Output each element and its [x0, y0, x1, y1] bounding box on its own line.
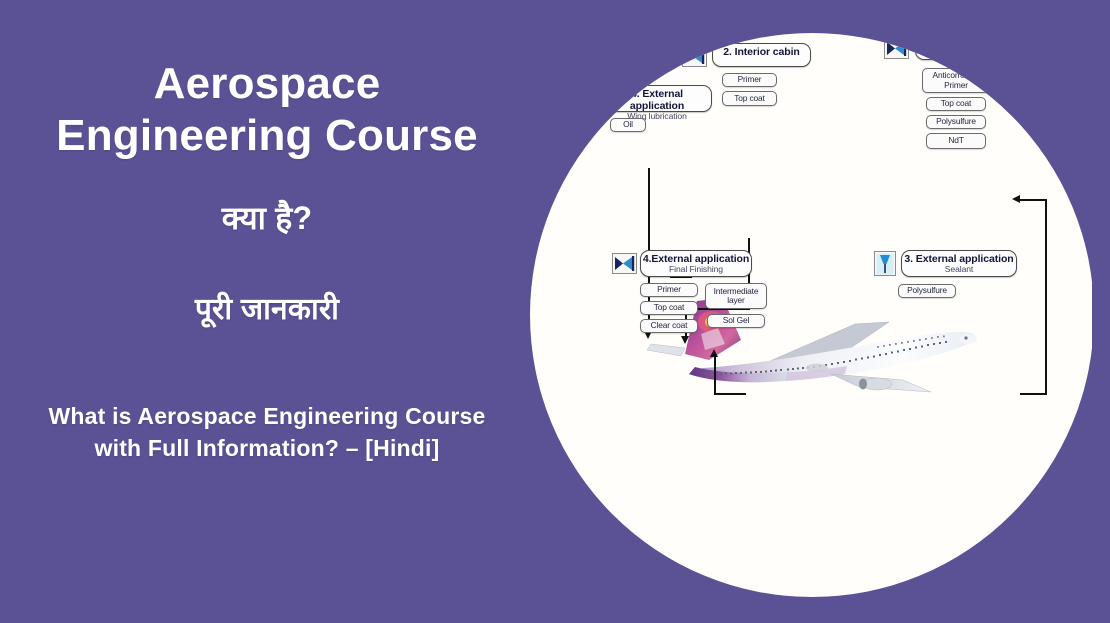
chip-primer-2[interactable]: Primer [640, 283, 698, 297]
node-external-final-finishing[interactable]: 4.External application Final Finishing [640, 250, 752, 277]
node-title: 3. External application [902, 251, 1016, 265]
caption-line-1: What is Aerospace Engineering Course [7, 401, 527, 433]
hindi-question-text: क्या है? [222, 200, 312, 238]
chip-primer-1[interactable]: Primer [722, 73, 777, 87]
caption-line-2: with Full Information? – [Hindi] [7, 433, 527, 465]
connector-line-n3-h-top [1017, 199, 1047, 201]
connector-line-n5-h [714, 393, 746, 395]
headline-column: Aerospace Engineering Course क्या है? पू… [0, 0, 534, 623]
chip-ndt[interactable]: NdT [926, 133, 986, 149]
chip-polysulfure-1[interactable]: Polysulfure [926, 115, 986, 129]
connector-arrow-n5 [710, 349, 718, 357]
connector-line-n5-v [714, 353, 716, 395]
aircraft-coating-diagram: 1. Structural parts Anticorrosion Primer… [530, 33, 1094, 597]
node-interior-cabin[interactable]: 2. Interior cabin [712, 43, 811, 67]
promo-banner: Aerospace Engineering Course क्या है? पू… [0, 0, 1110, 623]
caption-text: What is Aerospace Engineering Course wit… [7, 401, 527, 464]
node-external-sealant[interactable]: 3. External application Sealant [901, 250, 1017, 277]
chip-polysulfure-2[interactable]: Polysulfure [898, 284, 956, 298]
chip-top-coat-3[interactable]: Top coat [640, 301, 698, 315]
chip-anticorrosion-primer[interactable]: Anticorrosion Primer [922, 68, 990, 93]
node-subtitle: Sealant [902, 265, 1016, 275]
connector-arrow-n2 [681, 336, 689, 344]
chip-oil[interactable]: Oil [610, 118, 646, 132]
illustration-circle-panel: 1. Structural parts Anticorrosion Primer… [530, 33, 1094, 597]
node-title: 1. Structural parts [916, 36, 1030, 50]
chip-clear-coat[interactable]: Clear coat [640, 319, 698, 333]
connector-line-n3-v [1045, 199, 1047, 394]
spray-gun-icon [884, 38, 909, 59]
node-subtitle: Final Finishing [641, 265, 751, 275]
chip-top-coat-1[interactable]: Top coat [926, 97, 986, 111]
node-title: 4.External application [641, 251, 751, 265]
title-line-2: Engineering Course [7, 110, 527, 162]
spray-gun-icon [576, 88, 601, 109]
title-line-1: Aerospace [7, 58, 527, 110]
chip-top-coat-2[interactable]: Top coat [722, 91, 777, 106]
spray-gun-icon [682, 46, 707, 67]
node-structural-parts[interactable]: 1. Structural parts [915, 35, 1031, 60]
sealant-nozzle-icon [874, 251, 896, 276]
node-external-wing-lubrication[interactable]: 4. External application Wing lubrication [602, 85, 712, 112]
chip-intermediate-layer[interactable]: Intermediate layer [705, 283, 767, 309]
node-title: 2. Interior cabin [713, 44, 810, 58]
panel-right-mask [1092, 0, 1110, 623]
page-title: Aerospace Engineering Course [7, 58, 527, 162]
node-title: 4. External application [603, 86, 711, 112]
hindi-info-text: पूरी जानकारी [195, 292, 339, 327]
spray-gun-icon [612, 253, 637, 274]
connector-arrow-n3 [1012, 195, 1020, 203]
chip-sol-gel[interactable]: Sol Gel [707, 314, 765, 328]
connector-line-n1-stem [648, 168, 650, 258]
connector-line-n3-h-bot [1020, 393, 1047, 395]
